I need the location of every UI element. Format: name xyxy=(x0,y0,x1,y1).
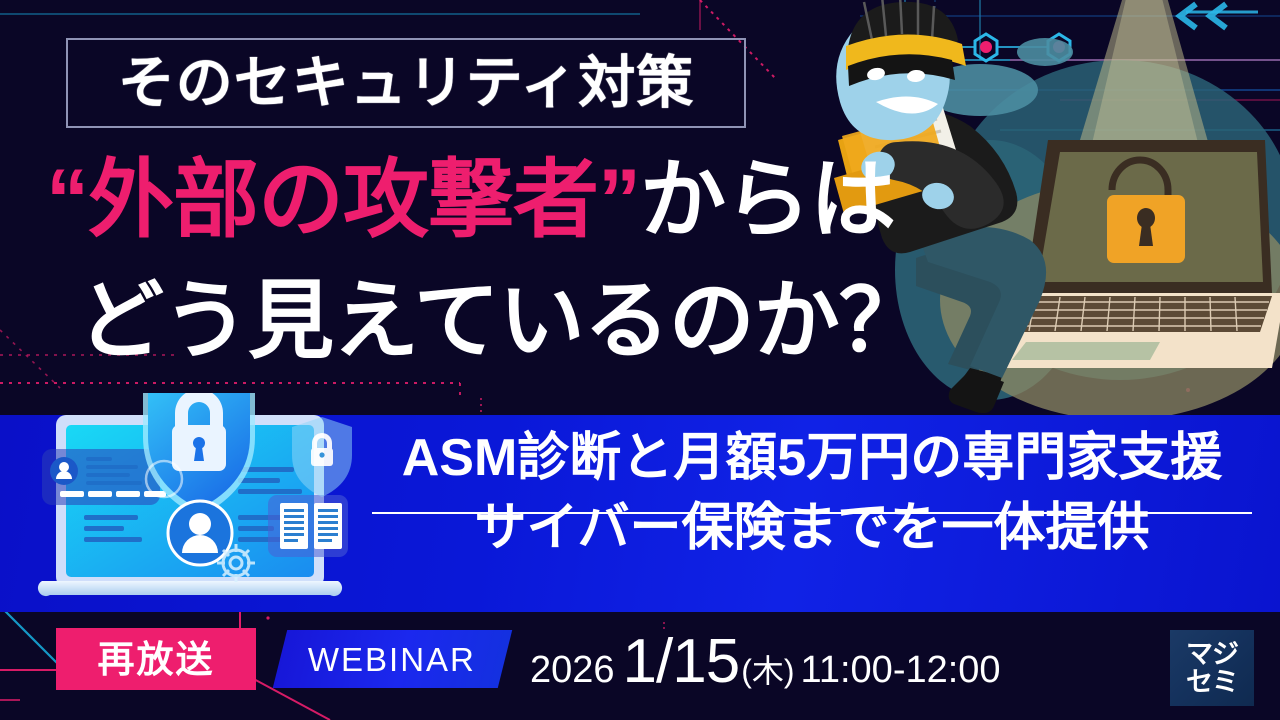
logo-line-1: マジ xyxy=(1186,640,1238,668)
webinar-banner: そのセキュリティ対策 “外部の攻撃者” からは どう見えているのか？ xyxy=(0,0,1280,720)
headline-block: そのセキュリティ対策 “外部の攻撃者” からは どう見えているのか？ xyxy=(0,0,1000,400)
user-avatar-icon xyxy=(168,501,232,565)
rerun-badge: 再放送 xyxy=(56,628,256,690)
security-dashboard-illustration xyxy=(30,393,380,615)
headline-line-3-text: どう見えているのか？ xyxy=(78,278,924,364)
subtitle-line-1: ASM診断と月額5万円の専門家支援 xyxy=(372,424,1252,484)
webinar-badge: WEBINAR xyxy=(273,630,512,688)
majisemi-logo: マジ セミ xyxy=(1170,630,1254,706)
rerun-badge-label: 再放送 xyxy=(98,641,215,678)
subtitle-text-group: ASM診断と月額5万円の専門家支援 サイバー保険までを一体提供 xyxy=(372,424,1252,604)
headline-quoted-phrase: “外部の攻撃者” xyxy=(46,157,640,243)
event-year: 2026 xyxy=(530,649,615,692)
headline-line-2: “外部の攻撃者” からは xyxy=(46,140,946,260)
logo-line-2: セミ xyxy=(1186,668,1238,696)
subtitle-line-2: サイバー保険までを一体提供 xyxy=(372,484,1252,554)
event-month-day: 1/15 xyxy=(623,626,740,697)
event-day-of-week: (木) xyxy=(741,646,794,692)
kicker-box: そのセキュリティ対策 xyxy=(66,38,746,128)
subtitle-divider xyxy=(372,512,1252,514)
event-time: 11:00-12:00 xyxy=(801,649,1001,692)
event-datetime: 2026 1/15 (木) 11:00-12:00 xyxy=(530,626,1001,696)
footer-bar: 再放送 WEBINAR 2026 1/15 (木) 11:00-12:00 マジ… xyxy=(0,612,1280,720)
headline-line-2-tail: からは xyxy=(640,157,895,243)
headline-line-3: どう見えているのか？ xyxy=(78,258,978,383)
webinar-badge-label: WEBINAR xyxy=(308,643,476,676)
laptop-shield-svg xyxy=(30,393,380,615)
kicker-text: そのセキュリティ対策 xyxy=(118,55,695,112)
